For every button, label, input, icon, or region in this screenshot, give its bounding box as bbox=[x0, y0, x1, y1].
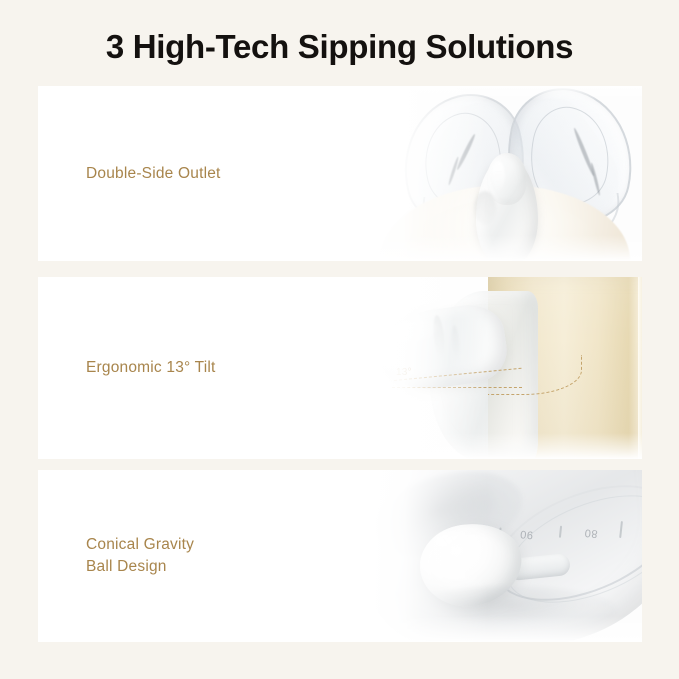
feature-image-double-side-outlet bbox=[368, 86, 642, 261]
graduation-label-90: 90 bbox=[519, 528, 533, 541]
nipple-crease bbox=[474, 191, 496, 225]
feature-label-double-side-outlet: Double-Side Outlet bbox=[38, 86, 368, 261]
nipple-gloss-highlight bbox=[492, 161, 505, 191]
feature-card-conical-gravity-ball[interactable]: Conical Gravity Ball Design 70 ml 80 90 bbox=[38, 470, 642, 642]
gravity-ball-illustration: 70 ml 80 90 bbox=[368, 470, 642, 642]
bottle-highlight-stripe bbox=[638, 277, 642, 459]
nipple-splash-illustration bbox=[368, 86, 642, 261]
feature-label-conical-gravity-ball: Conical Gravity Ball Design bbox=[38, 470, 368, 642]
product-feature-page: 3 High-Tech Sipping Solutions Double-Sid… bbox=[0, 0, 679, 679]
page-title: 3 High-Tech Sipping Solutions bbox=[0, 28, 679, 66]
angle-annotation-label: 13° bbox=[396, 367, 412, 378]
graduation-tick-major-1 bbox=[619, 521, 623, 538]
feature-image-conical-gravity-ball: 70 ml 80 90 bbox=[368, 470, 642, 642]
feature-card-ergonomic-tilt[interactable]: Ergonomic 13° Tilt 13° bbox=[38, 277, 642, 459]
graduation-label-80: 80 bbox=[584, 526, 598, 539]
tilted-nipple-illustration: 13° bbox=[368, 277, 642, 459]
graduation-tick-minor-1 bbox=[559, 526, 562, 538]
bottle-bottom-shadow bbox=[406, 586, 616, 634]
feature-card-double-side-outlet[interactable]: Double-Side Outlet bbox=[38, 86, 642, 261]
feature-label-ergonomic-tilt: Ergonomic 13° Tilt bbox=[38, 277, 368, 459]
gravity-ball-gloss-highlight bbox=[434, 532, 470, 550]
feature-image-ergonomic-tilt: 13° bbox=[368, 277, 642, 459]
